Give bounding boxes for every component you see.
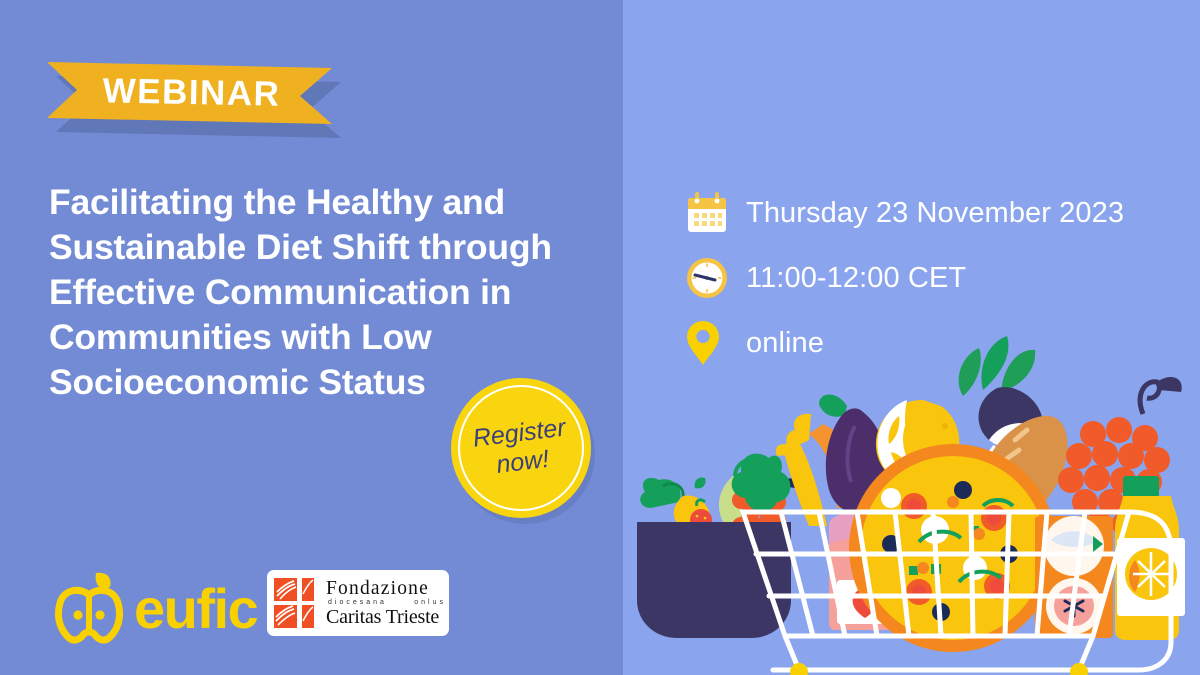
eufic-logo: eufic xyxy=(52,568,257,650)
event-date-text: Thursday 23 November 2023 xyxy=(746,197,1124,230)
caritas-mark-tl xyxy=(274,578,297,601)
caritas-subline: diocesana onlus xyxy=(328,599,446,606)
register-now-button[interactable]: Register now! xyxy=(451,378,591,518)
event-date-row: Thursday 23 November 2023 xyxy=(686,185,1124,241)
ribbon-label: WEBINAR xyxy=(46,59,332,126)
calendar-icon xyxy=(686,191,736,235)
caritas-mark-bl xyxy=(274,605,297,628)
title-line-4: Communities with Low xyxy=(49,315,609,360)
caritas-line-fondazione: Fondazione xyxy=(326,579,446,599)
webinar-ribbon: WEBINAR xyxy=(47,62,347,144)
caritas-mark-tr xyxy=(302,578,314,601)
caritas-text: Fondazione diocesana onlus Caritas Tries… xyxy=(326,579,446,628)
eufic-wordmark: eufic xyxy=(134,581,257,637)
badge-line-2: now! xyxy=(495,445,551,480)
event-time-text: 11:00-12:00 CET xyxy=(746,262,966,295)
apple-icon xyxy=(52,567,126,652)
grocery-shopping-cart-illustration xyxy=(623,330,1200,675)
webinar-poster: WEBINAR Facilitating the Healthy and Sus… xyxy=(0,0,1200,675)
caritas-sub-diocesana: diocesana xyxy=(328,599,387,606)
caritas-mark-br xyxy=(302,605,314,628)
caritas-cross-mark-icon xyxy=(274,577,324,629)
event-time-row: 11:00-12:00 CET xyxy=(686,250,1124,306)
title-line-2: Sustainable Diet Shift through xyxy=(49,225,609,270)
pizza xyxy=(849,444,1057,652)
caritas-line-trieste: Caritas Trieste xyxy=(326,607,446,627)
title-line-3: Effective Communication in xyxy=(49,270,609,315)
badge-text: Register now! xyxy=(443,370,599,526)
title-line-1: Facilitating the Healthy and xyxy=(49,180,609,225)
webinar-title: Facilitating the Healthy and Sustainable… xyxy=(49,180,609,405)
caritas-sub-onlus: onlus xyxy=(414,599,446,606)
juice-bottle xyxy=(1115,476,1185,640)
clock-icon xyxy=(686,257,736,299)
caritas-logo: Fondazione diocesana onlus Caritas Tries… xyxy=(267,570,449,636)
